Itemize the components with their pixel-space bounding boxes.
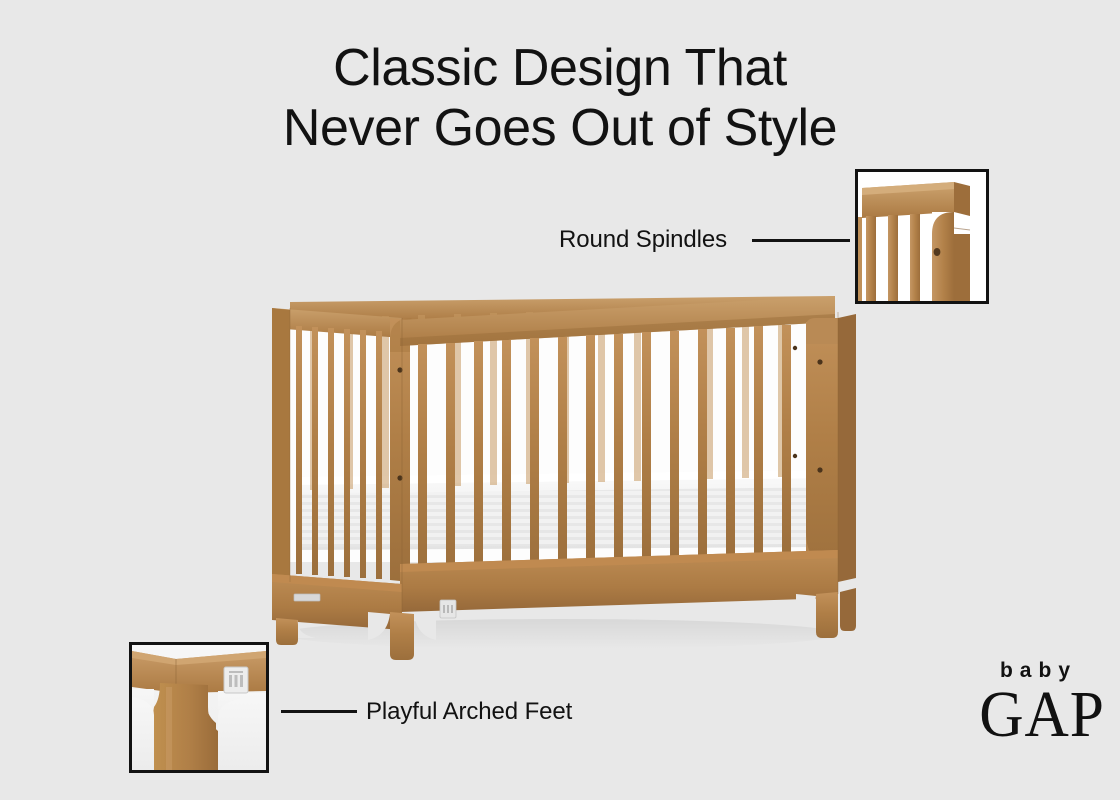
crib-product-image [250, 282, 870, 662]
brand-logo-babygap: baby GAP [975, 660, 1095, 746]
callout-label-playful-arched-feet: Playful Arched Feet [366, 698, 572, 726]
leader-line-round-spindles [752, 239, 850, 242]
headline-line-1: Classic Design That [0, 38, 1120, 98]
page-title: Classic Design That Never Goes Out of St… [0, 38, 1120, 159]
headline-line-2: Never Goes Out of Style [0, 98, 1120, 158]
detail-inset-arched-feet [129, 642, 269, 773]
detail-inset-round-spindles [855, 169, 989, 304]
leader-line-playful-arched-feet [281, 710, 357, 713]
brand-logo-gap-text: GAP [979, 685, 1091, 746]
callout-label-round-spindles: Round Spindles [559, 226, 727, 254]
marketing-banner: Classic Design That Never Goes Out of St… [0, 0, 1120, 800]
